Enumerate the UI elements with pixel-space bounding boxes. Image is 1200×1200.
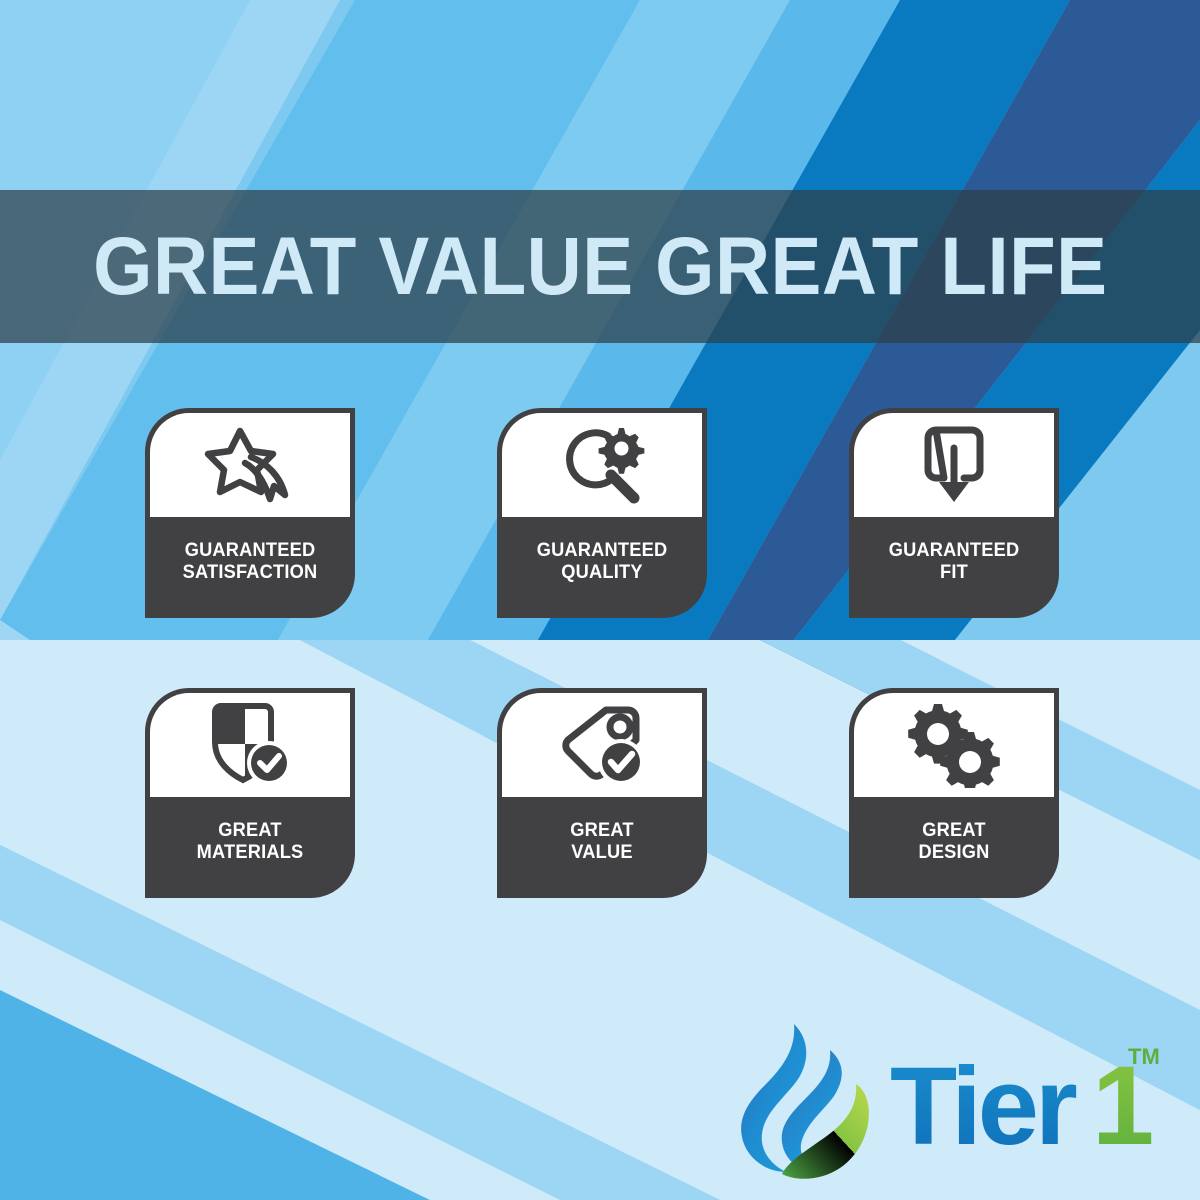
feature-card-great-materials[interactable]: GREAT MATERIALS — [145, 688, 355, 898]
feature-card-guaranteed-quality[interactable]: GUARANTEED QUALITY — [497, 408, 707, 618]
feature-label-line2: FIT — [940, 562, 968, 584]
feature-label-line1: GUARANTEED — [889, 540, 1020, 562]
feature-label-line1: GREAT — [570, 820, 633, 842]
feature-card-guaranteed-satisfaction[interactable]: GUARANTEED SATISFACTION — [145, 408, 355, 618]
feature-label-line2: SATISFACTION — [183, 562, 318, 584]
feature-label-line1: GREAT — [922, 820, 985, 842]
feature-label-line1: GUARANTEED — [537, 540, 668, 562]
logo-wordmark-tier: Tier — [890, 1045, 1077, 1168]
gears-icon — [854, 693, 1054, 797]
feature-label-line2: VALUE — [571, 842, 632, 864]
feature-label-line1: GREAT — [218, 820, 281, 842]
page-title: GREAT VALUE GREAT LIFE — [93, 226, 1107, 308]
feature-card-label: GUARANTEED FIT — [858, 517, 1050, 613]
feature-label-line2: QUALITY — [561, 562, 642, 584]
insert-download-icon — [854, 413, 1054, 517]
price-tag-check-icon — [502, 693, 702, 797]
feature-label-line1: GUARANTEED — [185, 540, 316, 562]
headline-banner: GREAT VALUE GREAT LIFE — [0, 190, 1200, 343]
logo-trademark-symbol: TM — [1128, 1044, 1160, 1069]
magnifier-gear-icon — [502, 413, 702, 517]
shooting-star-icon — [150, 413, 350, 517]
flame-leaf-mark — [741, 1024, 869, 1179]
feature-card-label: GREAT DESIGN — [858, 797, 1050, 893]
promo-graphic: GREAT VALUE GREAT LIFE GUARANTEED SATISF… — [0, 0, 1200, 1200]
feature-card-great-design[interactable]: GREAT DESIGN — [849, 688, 1059, 898]
feature-card-great-value[interactable]: GREAT VALUE — [497, 688, 707, 898]
shield-check-icon — [150, 693, 350, 797]
feature-card-label: GREAT VALUE — [506, 797, 698, 893]
tier1-logo: Tier 1 TM — [718, 1016, 1168, 1186]
feature-card-guaranteed-fit[interactable]: GUARANTEED FIT — [849, 408, 1059, 618]
feature-card-label: GUARANTEED QUALITY — [506, 517, 698, 613]
feature-label-line2: DESIGN — [918, 842, 989, 864]
feature-label-line2: MATERIALS — [197, 842, 304, 864]
feature-card-label: GREAT MATERIALS — [154, 797, 346, 893]
feature-card-label: GUARANTEED SATISFACTION — [154, 517, 346, 613]
